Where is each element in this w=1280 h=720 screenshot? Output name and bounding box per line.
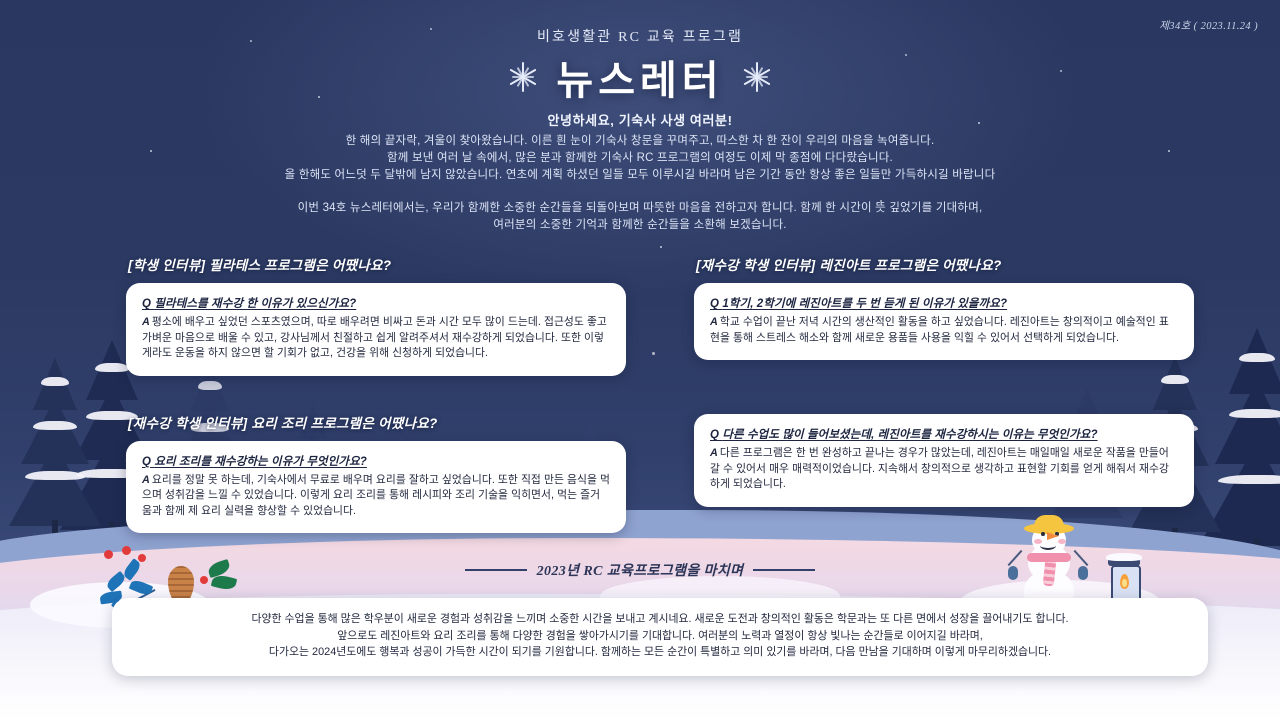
- interview-answer: A학교 수업이 끝난 저녁 시간의 생산적인 활동을 하고 싶었습니다. 레진아…: [710, 315, 1178, 346]
- program-kicker: 비호생활관 RC 교육 프로그램: [0, 26, 1280, 46]
- interview-card-resin-art-1: Q 1학기, 2학기에 레진아트를 두 번 듣게 된 이유가 있을까요? A학교…: [694, 283, 1194, 360]
- closing-message-card: 다양한 수업을 통해 많은 학우분이 새로운 경험과 성취감을 느끼며 소중한 …: [112, 598, 1208, 676]
- intro-line: 이번 34호 뉴스레터에서는, 우리가 함께한 소중한 순간들을 되돌아보며 따…: [0, 200, 1280, 217]
- answer-text: 평소에 배우고 싶었던 스포츠였으며, 따로 배우려면 비싸고 돈과 시간 모두…: [142, 316, 607, 359]
- divider-line-left: [465, 569, 527, 571]
- answer-text: 다른 프로그램은 한 번 완성하고 끝나는 경우가 많았는데, 레진아트는 매일…: [710, 447, 1169, 490]
- question-marker: Q: [710, 298, 719, 310]
- interview-column-right: [재수강 학생 인터뷰] 레진아트 프로그램은 어땠나요? Q 1학기, 2학기…: [694, 254, 1194, 507]
- snowflake-icon: [508, 62, 538, 92]
- closing-line: 앞으로도 레진아트와 요리 조리를 통해 다양한 경험을 쌓아가시기를 기대합니…: [132, 628, 1188, 645]
- interview-card-resin-art-2: Q 다른 수업도 많이 들어보셨는데, 레진아트를 재수강하시는 이유는 무엇인…: [694, 414, 1194, 507]
- newsletter-page: 제34호 ( 2023.11.24 ) 비호생활관 RC 교육 프로그램 뉴스레…: [0, 0, 1280, 720]
- question-marker: Q: [142, 456, 151, 468]
- snowflake-icon: [742, 62, 772, 92]
- intro-paragraph-1: 한 해의 끝자락, 겨울이 찾아왔습니다. 이른 흰 눈이 기숙사 창문을 꾸며…: [0, 133, 1280, 184]
- page-title: 뉴스레터: [556, 48, 723, 106]
- question-marker: Q: [142, 298, 151, 310]
- interview-question: Q 1학기, 2학기에 레진아트를 두 번 듣게 된 이유가 있을까요?: [710, 295, 1178, 311]
- divider-line-right: [753, 569, 815, 571]
- greeting-line: 안녕하세요, 기숙사 사생 여러분!: [0, 110, 1280, 129]
- intro-line: 여러분의 소중한 기억과 함께한 순간들을 소환해 보겠습니다.: [0, 217, 1280, 234]
- answer-marker: A: [710, 447, 720, 459]
- answer-marker: A: [142, 474, 152, 486]
- answer-text: 요리를 정말 못 하는데, 기숙사에서 무료로 배우며 요리를 잘하고 싶었습니…: [142, 474, 610, 517]
- section-title-pilates: [학생 인터뷰] 필라테스 프로그램은 어땠나요?: [128, 254, 626, 274]
- interview-column-left: [학생 인터뷰] 필라테스 프로그램은 어땠나요? Q 필라테스를 재수강 한 …: [126, 254, 626, 533]
- closing-divider: 2023년 RC 교육프로그램을 마치며: [0, 560, 1280, 580]
- question-text: 1학기, 2학기에 레진아트를 두 번 듣게 된 이유가 있을까요?: [722, 298, 1007, 310]
- answer-text: 학교 수업이 끝난 저녁 시간의 생산적인 활동을 하고 싶었습니다. 레진아트…: [710, 316, 1169, 344]
- question-text: 필라테스를 재수강 한 이유가 있으신가요?: [154, 298, 356, 310]
- interview-answer: A요리를 정말 못 하는데, 기숙사에서 무료로 배우며 요리를 잘하고 싶었습…: [142, 473, 610, 520]
- intro-paragraph-2: 이번 34호 뉴스레터에서는, 우리가 함께한 소중한 순간들을 되돌아보며 따…: [0, 200, 1280, 234]
- section-title-resin-art: [재수강 학생 인터뷰] 레진아트 프로그램은 어땠나요?: [696, 254, 1194, 274]
- question-text: 요리 조리를 재수강하는 이유가 무엇인가요?: [154, 456, 367, 468]
- question-marker: Q: [710, 429, 719, 441]
- intro-line: 함께 보낸 여러 날 속에서, 많은 분과 함께한 기숙사 RC 프로그램의 여…: [0, 150, 1280, 167]
- interview-answer: A다른 프로그램은 한 번 완성하고 끝나는 경우가 많았는데, 레진아트는 매…: [710, 446, 1178, 493]
- newsletter-title-row: 뉴스레터: [0, 48, 1280, 106]
- intro-line: 올 한해도 어느덧 두 달밖에 남지 않았습니다. 연초에 계획 하셨던 일들 …: [0, 167, 1280, 184]
- interview-question: Q 다른 수업도 많이 들어보셨는데, 레진아트를 재수강하시는 이유는 무엇인…: [710, 426, 1178, 442]
- closing-divider-text: 2023년 RC 교육프로그램을 마치며: [537, 560, 744, 580]
- answer-marker: A: [142, 316, 152, 328]
- interview-answer: A평소에 배우고 싶었던 스포츠였으며, 따로 배우려면 비싸고 돈과 시간 모…: [142, 315, 610, 362]
- closing-line: 다양한 수업을 통해 많은 학우분이 새로운 경험과 성취감을 느끼며 소중한 …: [132, 611, 1188, 628]
- interview-question: Q 필라테스를 재수강 한 이유가 있으신가요?: [142, 295, 610, 311]
- section-title-cooking: [재수강 학생 인터뷰] 요리 조리 프로그램은 어땠나요?: [128, 412, 626, 432]
- closing-line: 다가오는 2024년도에도 행복과 성공이 가득한 시간이 되기를 기원합니다.…: [132, 644, 1188, 661]
- answer-marker: A: [710, 316, 720, 328]
- question-text: 다른 수업도 많이 들어보셨는데, 레진아트를 재수강하시는 이유는 무엇인가요…: [722, 429, 1097, 441]
- interview-card-pilates: Q 필라테스를 재수강 한 이유가 있으신가요? A평소에 배우고 싶었던 스포…: [126, 283, 626, 376]
- interview-question: Q 요리 조리를 재수강하는 이유가 무엇인가요?: [142, 453, 610, 469]
- intro-line: 한 해의 끝자락, 겨울이 찾아왔습니다. 이른 흰 눈이 기숙사 창문을 꾸며…: [0, 133, 1280, 150]
- interview-card-cooking: Q 요리 조리를 재수강하는 이유가 무엇인가요? A요리를 정말 못 하는데,…: [126, 441, 626, 534]
